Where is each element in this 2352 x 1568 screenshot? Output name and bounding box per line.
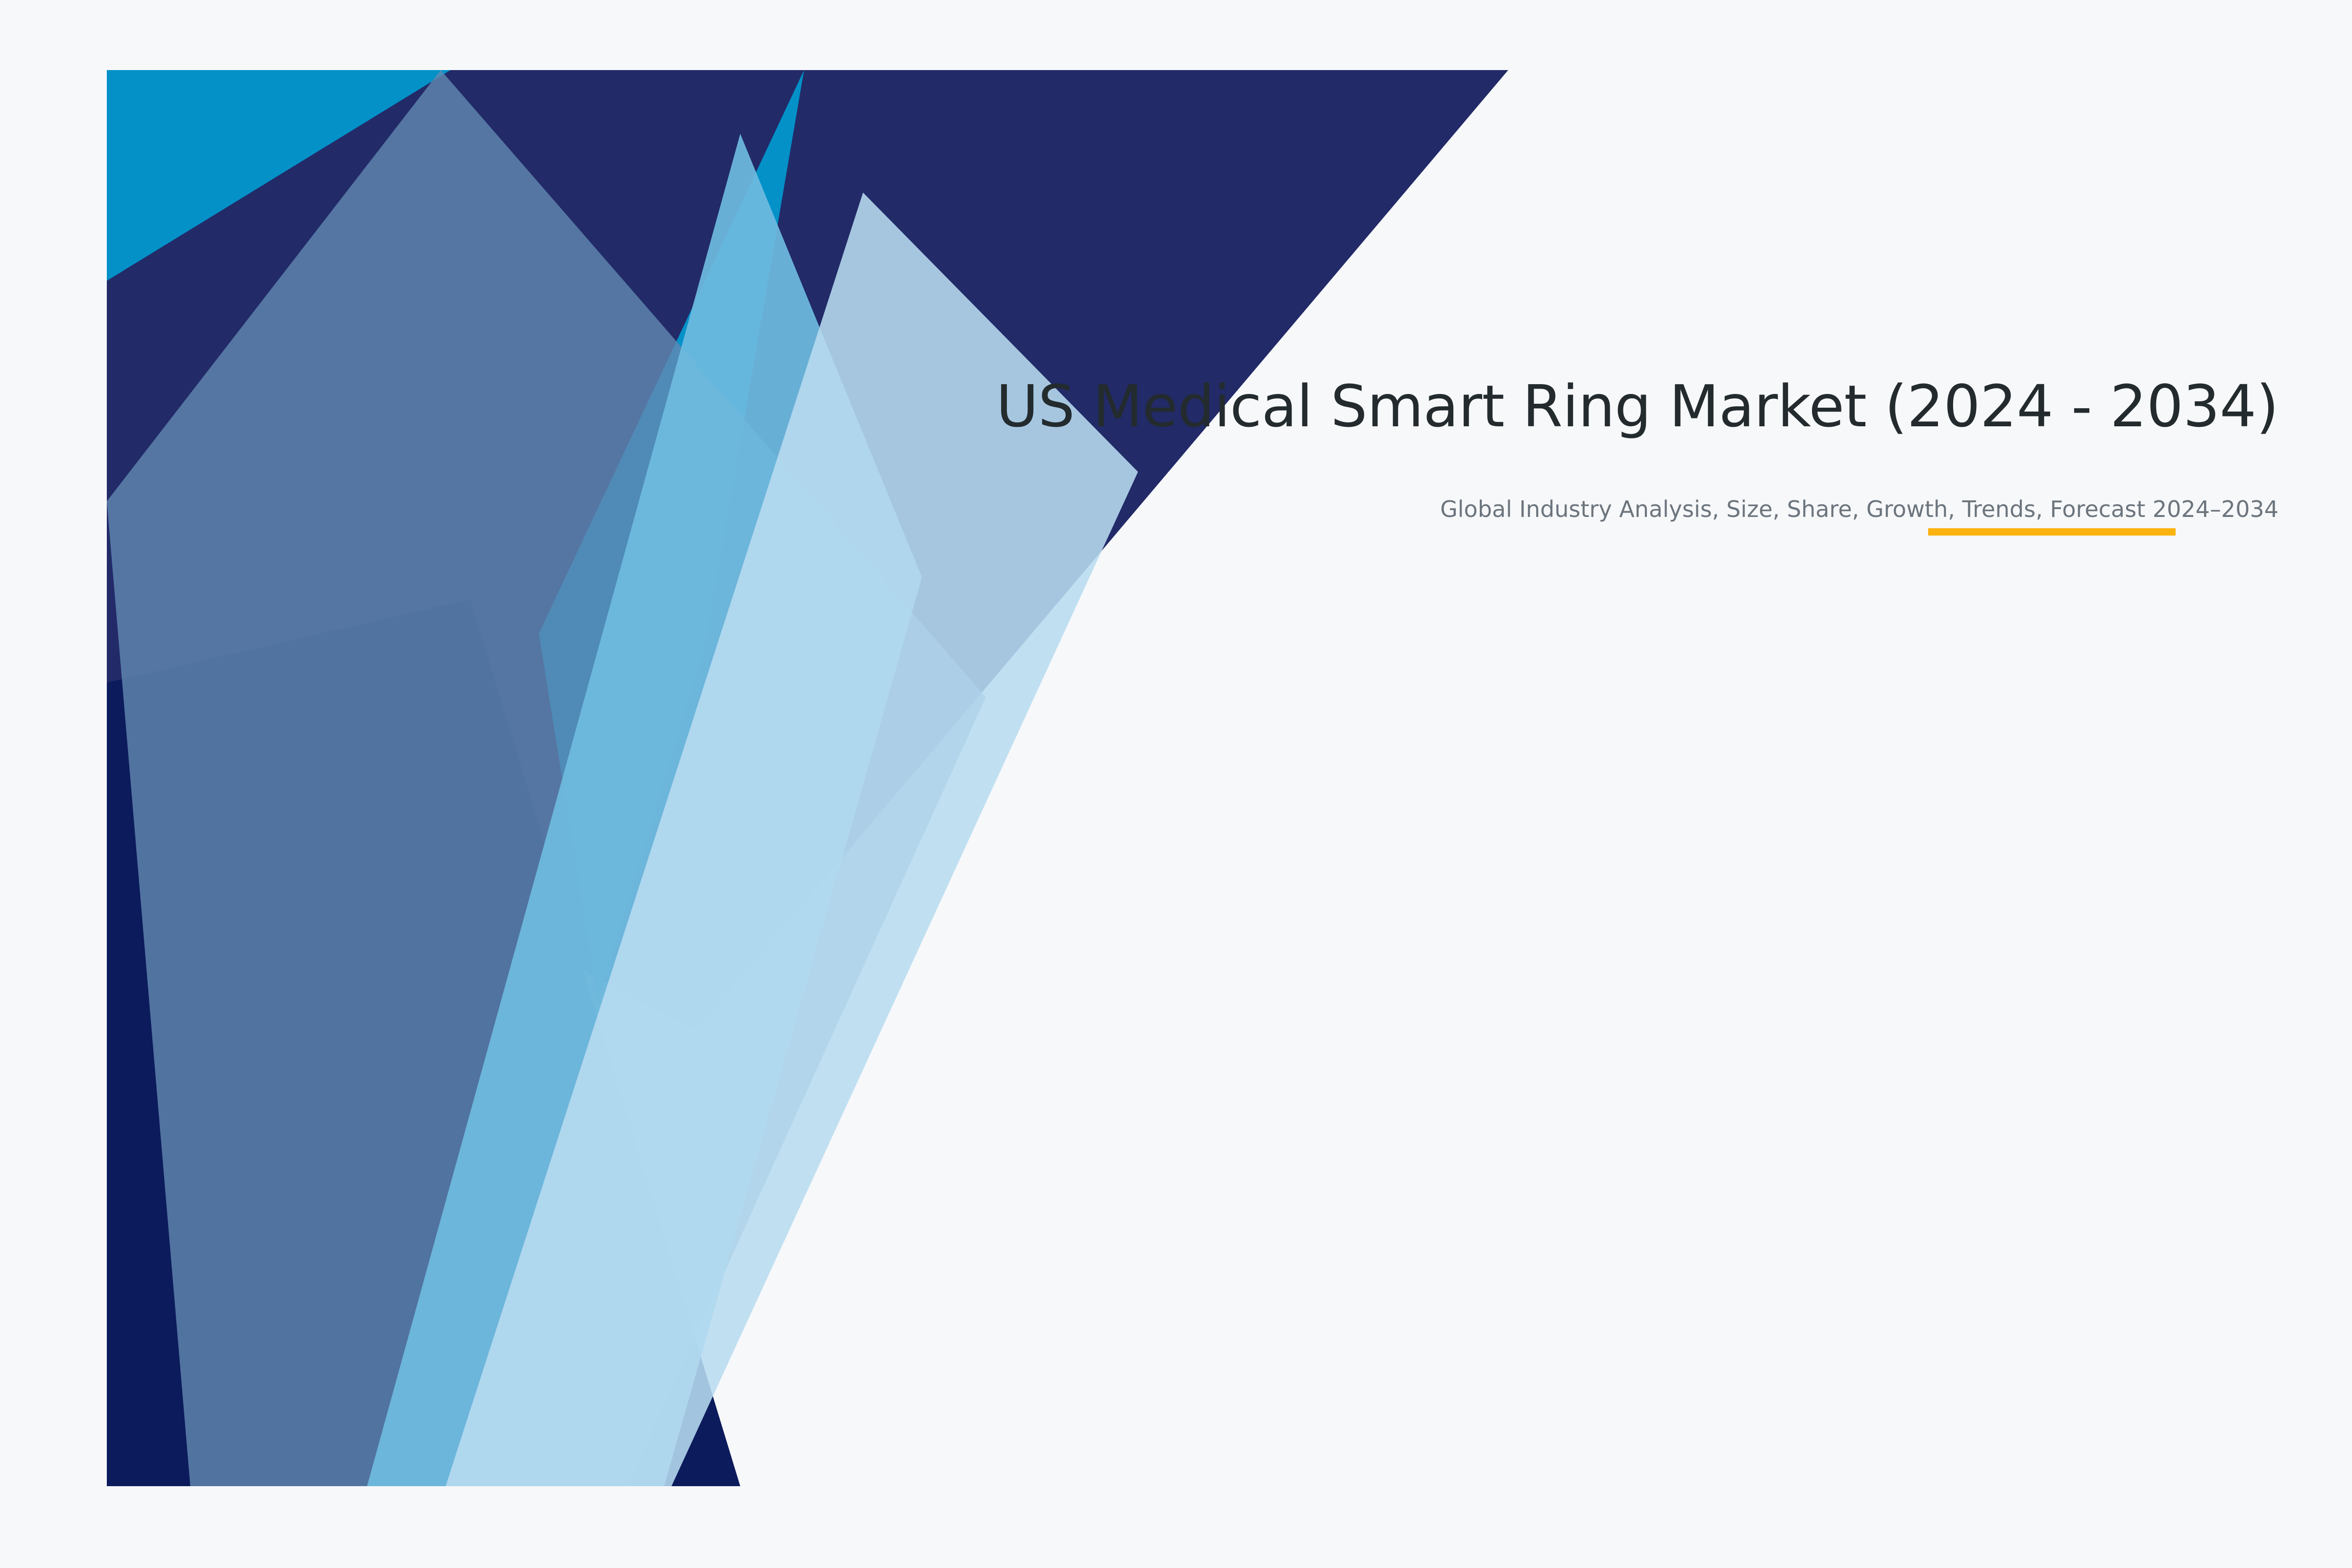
title-wrapper: US Medical Smart Ring Market (2024 - 203…	[735, 372, 2278, 441]
page-subtitle: Global Industry Analysis, Size, Share, G…	[735, 441, 2278, 525]
cover-artwork	[107, 70, 1508, 1486]
cover-page: US Medical Smart Ring Market (2024 - 203…	[0, 0, 2352, 1568]
geometric-artwork-svg	[107, 70, 1508, 1486]
title-accent-underline	[1928, 528, 2176, 536]
cover-text-block: US Medical Smart Ring Market (2024 - 203…	[735, 372, 2278, 526]
page-title: US Medical Smart Ring Market (2024 - 203…	[735, 372, 2278, 441]
